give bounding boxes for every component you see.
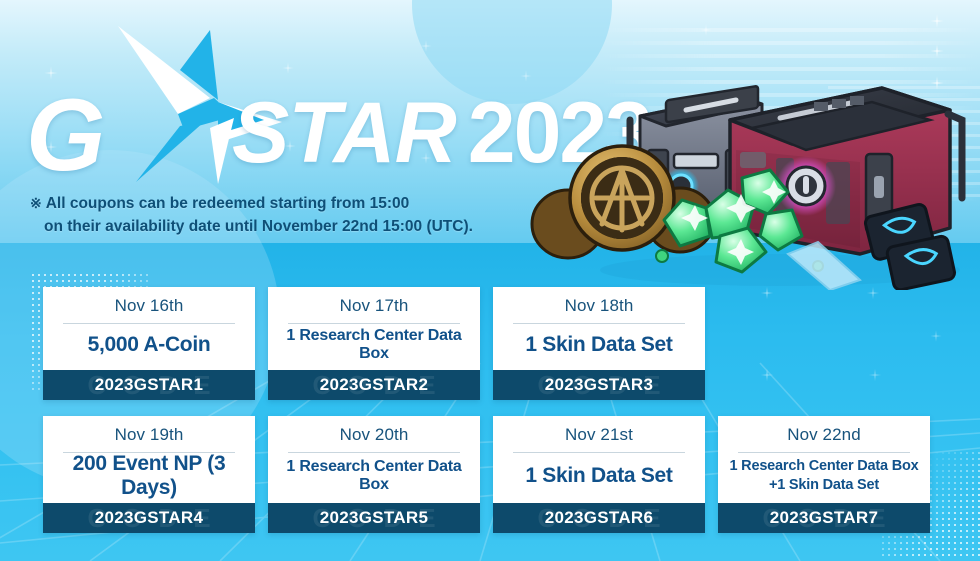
- coupon-date: Nov 19th: [43, 416, 255, 445]
- coupon-card[interactable]: Nov 19th 200 Event NP (3 Days) CODE 2023…: [43, 416, 255, 533]
- promo-banner: G STAR2023 ※All coupons can be redeemed …: [0, 0, 980, 561]
- coupon-code-bar[interactable]: CODE 2023GSTAR3: [493, 370, 705, 400]
- coupon-code: 2023GSTAR1: [95, 375, 204, 395]
- coupon-code-bar[interactable]: CODE 2023GSTAR5: [268, 503, 480, 533]
- coupon-card[interactable]: Nov 18th 1 Skin Data Set CODE 2023GSTAR3: [493, 287, 705, 400]
- coupon-code-bar[interactable]: CODE 2023GSTAR2: [268, 370, 480, 400]
- coupon-code-bar[interactable]: CODE 2023GSTAR7: [718, 503, 930, 533]
- coupon-card-grid: Nov 16th 5,000 A-Coin CODE 2023GSTAR1 No…: [0, 0, 980, 561]
- coupon-date: Nov 18th: [493, 287, 705, 316]
- coupon-code: 2023GSTAR6: [545, 508, 654, 528]
- coupon-date: Nov 22nd: [718, 416, 930, 445]
- coupon-card[interactable]: Nov 16th 5,000 A-Coin CODE 2023GSTAR1: [43, 287, 255, 400]
- coupon-code: 2023GSTAR2: [320, 375, 429, 395]
- coupon-code-bar[interactable]: CODE 2023GSTAR1: [43, 370, 255, 400]
- coupon-date: Nov 20th: [268, 416, 480, 445]
- coupon-reward: 1 Research Center Data Box: [268, 453, 480, 499]
- coupon-code: 2023GSTAR4: [95, 508, 204, 528]
- coupon-code-bar[interactable]: CODE 2023GSTAR6: [493, 503, 705, 533]
- coupon-code: 2023GSTAR7: [770, 508, 879, 528]
- coupon-code-bar[interactable]: CODE 2023GSTAR4: [43, 503, 255, 533]
- coupon-reward: 5,000 A-Coin: [43, 324, 255, 366]
- coupon-reward: 1 Research Center Data Box: [268, 324, 480, 366]
- coupon-date: Nov 16th: [43, 287, 255, 316]
- coupon-date: Nov 21st: [493, 416, 705, 445]
- coupon-card[interactable]: Nov 20th 1 Research Center Data Box CODE…: [268, 416, 480, 533]
- coupon-reward: 1 Research Center Data Box +1 Skin Data …: [718, 453, 930, 499]
- coupon-card[interactable]: Nov 17th 1 Research Center Data Box CODE…: [268, 287, 480, 400]
- coupon-code: 2023GSTAR3: [545, 375, 654, 395]
- coupon-card[interactable]: Nov 22nd 1 Research Center Data Box +1 S…: [718, 416, 930, 533]
- coupon-date: Nov 17th: [268, 287, 480, 316]
- coupon-reward: 200 Event NP (3 Days): [43, 453, 255, 499]
- coupon-card[interactable]: Nov 21st 1 Skin Data Set CODE 2023GSTAR6: [493, 416, 705, 533]
- coupon-reward: 1 Skin Data Set: [493, 324, 705, 366]
- coupon-reward: 1 Skin Data Set: [493, 453, 705, 499]
- coupon-code: 2023GSTAR5: [320, 508, 429, 528]
